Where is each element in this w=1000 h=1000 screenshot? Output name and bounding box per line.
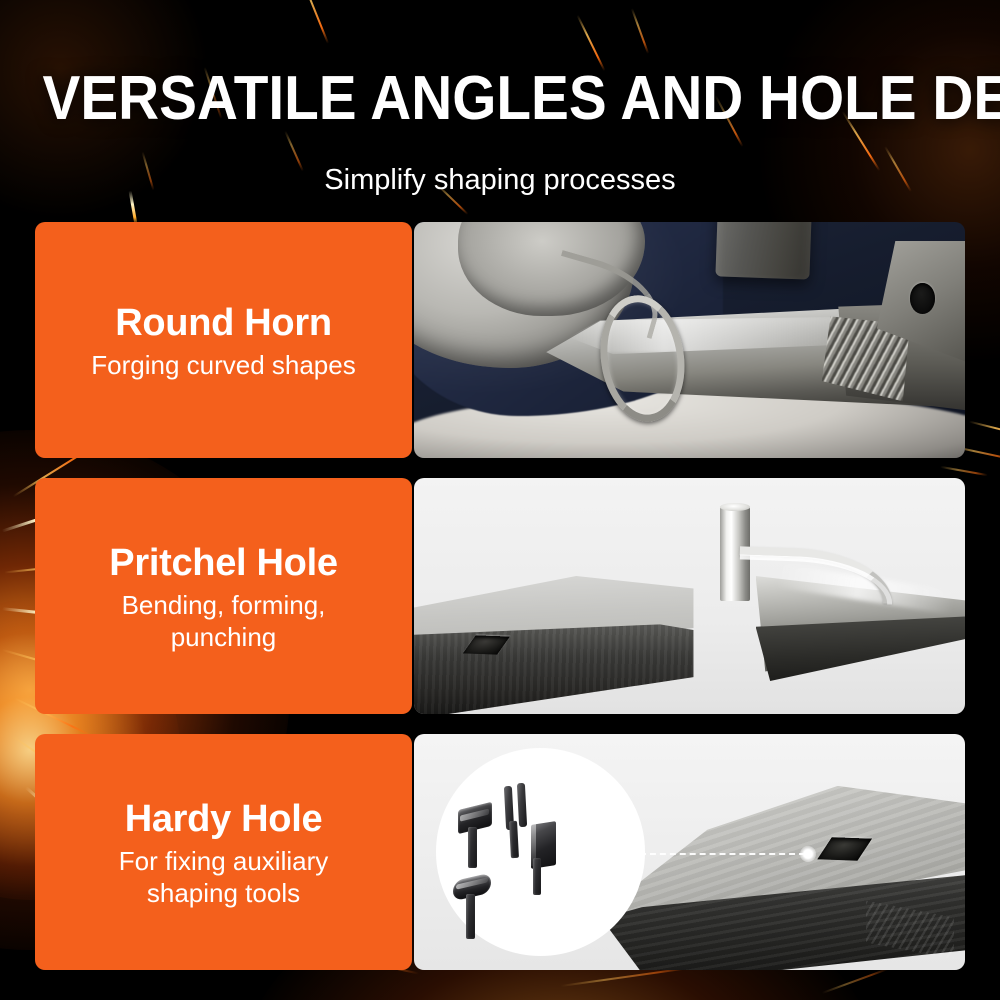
spark-streak	[822, 968, 888, 994]
bent-round-bar-highlight	[738, 554, 894, 604]
hardy-tool-round-swage	[453, 877, 491, 939]
photo-round-horn	[414, 222, 965, 458]
tool-shank	[466, 894, 475, 939]
photo-pritchel-hole	[414, 478, 965, 714]
bending-pin-top	[720, 503, 750, 511]
feature-subtitle: Forging curved shapes	[91, 349, 355, 381]
feature-card-pritchel-hole[interactable]: Pritchel Hole Bending, forming, punching	[35, 478, 412, 714]
feature-card-hardy-hole[interactable]: Hardy Hole For fixing auxiliary shaping …	[35, 734, 412, 970]
feature-subtitle: Bending, forming, punching	[122, 589, 326, 653]
feature-title: Round Horn	[115, 300, 332, 346]
tool-shank	[468, 827, 477, 868]
tool-shank	[533, 858, 541, 895]
spark-streak	[940, 466, 988, 476]
spark-streak	[969, 421, 1000, 442]
feature-subtitle-line: Forging curved shapes	[91, 349, 355, 381]
page-subtitle: Simplify shaping processes	[0, 161, 1000, 199]
tool-shank	[509, 821, 519, 858]
feature-row-round-horn: Round Horn Forging curved shapes	[35, 222, 965, 458]
hammer-head-shape	[715, 222, 812, 280]
hardy-tool-cutoff-blade	[528, 823, 559, 894]
pritchel-hole-shape	[910, 283, 935, 314]
feature-card-round-horn[interactable]: Round Horn Forging curved shapes	[35, 222, 412, 458]
feature-subtitle-line: Bending, forming,	[122, 589, 326, 621]
feature-row-hardy-hole: Hardy Hole For fixing auxiliary shaping …	[35, 734, 965, 970]
feature-subtitle-line: shaping tools	[119, 877, 329, 909]
hardy-tools-callout-circle	[436, 748, 645, 956]
spark-streak	[301, 0, 329, 44]
page-title: VERSATILE ANGLES AND HOLE DESIGN	[43, 64, 958, 134]
feature-subtitle-line: punching	[122, 621, 326, 653]
poster-stage: VERSATILE ANGLES AND HOLE DESIGN Simplif…	[0, 0, 1000, 1000]
feature-title: Pritchel Hole	[109, 540, 337, 586]
feature-row-pritchel-hole: Pritchel Hole Bending, forming, punching	[35, 478, 965, 714]
feature-subtitle-line: For fixing auxiliary	[119, 845, 329, 877]
feature-title: Hardy Hole	[125, 796, 323, 842]
spark-streak	[577, 15, 606, 72]
callout-dashed-line	[640, 853, 805, 855]
feature-subtitle: For fixing auxiliary shaping tools	[119, 845, 329, 909]
hardy-tool-swage	[458, 806, 492, 868]
photo-hardy-hole	[414, 734, 965, 970]
spark-streak	[631, 8, 649, 54]
tool-prong-right	[517, 783, 527, 827]
